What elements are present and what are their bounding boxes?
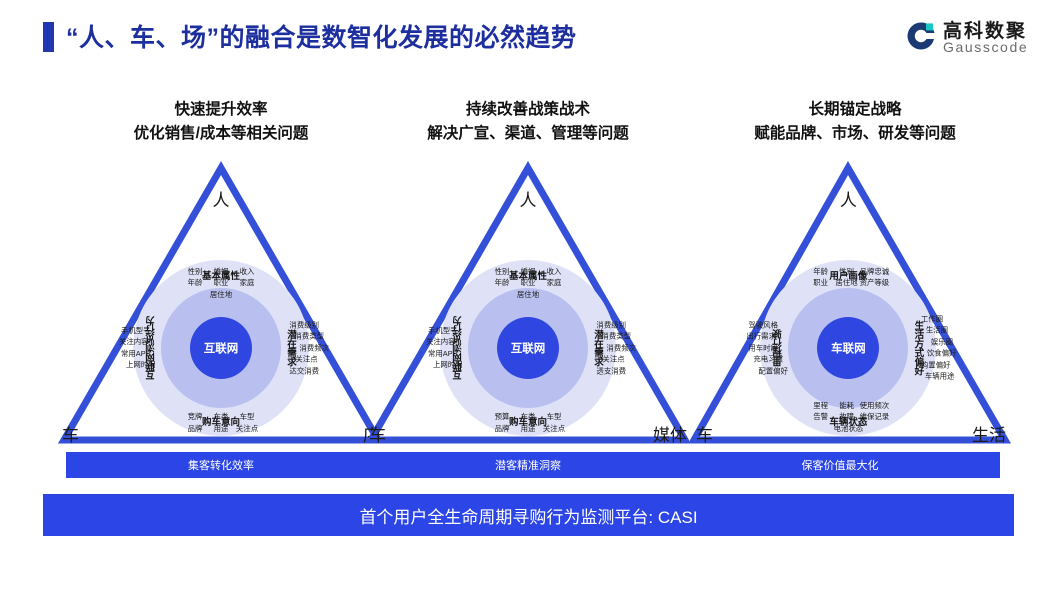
satellite-row: 配置偏好 bbox=[746, 365, 788, 376]
satellite-label: 婚姻 bbox=[515, 266, 541, 277]
satellite-row: 生活圈 bbox=[921, 325, 957, 336]
satellite-label: 职业 bbox=[808, 277, 834, 288]
satellite-label: 用途 bbox=[208, 423, 234, 434]
satellite-label: 常用APP bbox=[121, 348, 151, 359]
satellite-row: 车辆用途 bbox=[921, 371, 957, 382]
gausscode-logo-icon bbox=[905, 20, 937, 52]
satellite-label: 品牌忠诚 bbox=[860, 266, 890, 277]
satellite-row: 透支消费 bbox=[596, 365, 636, 376]
vertex-label-right: 媒体 bbox=[653, 421, 687, 446]
satellite-label: 预算 bbox=[489, 411, 515, 422]
satellite-label: 品牌 bbox=[489, 423, 515, 434]
brand-logo: 高科数聚 Gausscode bbox=[905, 16, 1035, 62]
satellite-label: 消费级别 bbox=[289, 319, 319, 330]
satellite-label: 竞牌 bbox=[182, 411, 208, 422]
satellite-label: 充电习惯 bbox=[753, 354, 783, 365]
satellite-label: 性别 bbox=[182, 266, 208, 277]
satellite-label: 收入 bbox=[234, 266, 260, 277]
concentric-rings: 互联网 互联网 基本属性 购车意向 互联网浏览行为 潜在需求 性别婚姻收入年龄职… bbox=[133, 260, 309, 436]
core-label: 互联网 bbox=[511, 340, 546, 356]
satellite-label: 居住地 bbox=[208, 289, 234, 300]
satellite-label: 消费级别 bbox=[596, 319, 626, 330]
satellite-row: 消费级别 bbox=[596, 319, 636, 330]
satellite-label: 关注点 bbox=[602, 354, 624, 365]
core-label: 互联网 bbox=[204, 340, 239, 356]
satellite-label: 职业 bbox=[515, 277, 541, 288]
satellite-label: 车类 bbox=[208, 411, 234, 422]
satellite-row: 职业居住地资产等级 bbox=[808, 277, 890, 288]
satellite-row: 里程能耗使用频次 bbox=[808, 400, 890, 411]
column-heading-line2: 解决广宣、渠道、管理等问题 bbox=[363, 122, 693, 146]
satellite-row: 达交消费 bbox=[289, 365, 329, 376]
diagram-panel-1: 人 车 店 互联网 互联网 基本属性 购车意向 互联网浏览行为 潜在需求 性别婚… bbox=[56, 160, 386, 448]
satellite-group-bottom: 竞牌车类车型品牌用途关注点 bbox=[182, 411, 260, 434]
satellite-row: 年龄职业家庭 bbox=[182, 277, 260, 288]
satellite-group-left: 驾驶风格出行需求用车时段充电习惯配置偏好 bbox=[746, 319, 788, 376]
satellite-label: 性别 bbox=[489, 266, 515, 277]
satellite-row: 上网时间 bbox=[426, 359, 463, 370]
satellite-row: 性别婚姻收入 bbox=[489, 266, 567, 277]
satellite-label: 常用APP bbox=[428, 348, 458, 359]
satellite-label: 年龄 bbox=[182, 277, 208, 288]
concentric-rings: 互联网 互联网 基本属性 购车意向 互联网浏览行为 潜在需求 性别婚姻收入年龄职… bbox=[440, 260, 616, 436]
satellite-label: 饮食偏好 bbox=[927, 348, 957, 359]
satellite-label: 配置偏好 bbox=[758, 365, 788, 376]
satellite-label: 工作圈 bbox=[921, 314, 943, 325]
satellite-label: 关注点 bbox=[541, 423, 567, 434]
column-heading-line2: 优化销售/成本等相关问题 bbox=[56, 122, 386, 146]
satellite-row: 性别婚姻收入 bbox=[182, 266, 260, 277]
satellite-group-left: 手机型号关注内容常用APP上网时间 bbox=[426, 325, 463, 371]
satellite-label: 驾驶风格 bbox=[748, 319, 778, 330]
satellite-row: 出行需求 bbox=[746, 331, 788, 342]
satellite-label: 关注内容 bbox=[119, 337, 149, 348]
satellite-row: 购置偏好 bbox=[921, 359, 957, 370]
satellite-group-right: 消费级别消费类型消费频次关注点透支消费 bbox=[596, 319, 636, 376]
satellite-label: 车辆用途 bbox=[925, 371, 955, 382]
satellite-row: 居住地 bbox=[489, 289, 567, 300]
vertex-label-right: 生活 bbox=[972, 421, 1006, 446]
core-label: 车联网 bbox=[831, 340, 866, 356]
satellite-label: 上网时间 bbox=[126, 359, 156, 370]
concentric-rings: 车联网 车联网 用户画像 车辆状态 里程行驶 生活方式偏好 年龄性别品牌忠诚职业… bbox=[760, 260, 936, 436]
satellite-row: 驾驶风格 bbox=[746, 319, 788, 330]
satellite-row: 年龄职业家庭 bbox=[489, 277, 567, 288]
satellite-row: 电池状态 bbox=[808, 423, 890, 434]
satellite-label: 用车时段 bbox=[748, 342, 778, 353]
satellite-row: 关注内容 bbox=[426, 337, 463, 348]
satellite-row: 消费频次 bbox=[596, 342, 636, 353]
satellite-label: 消费类型 bbox=[601, 331, 631, 342]
satellite-label: 透支消费 bbox=[596, 365, 626, 376]
satellite-row: 竞牌车类车型 bbox=[182, 411, 260, 422]
satellite-label: 维保记录 bbox=[860, 411, 890, 422]
satellite-label: 生活圈 bbox=[926, 325, 948, 336]
satellite-row: 用车时段 bbox=[746, 342, 788, 353]
satellite-label: 上网时间 bbox=[433, 359, 463, 370]
satellite-group-right: 工作圈生活圈娱乐圈饮食偏好购置偏好车辆用途 bbox=[921, 314, 957, 383]
satellite-label: 电池状态 bbox=[834, 423, 864, 434]
satellite-row: 手机型号 bbox=[119, 325, 156, 336]
satellite-row: 关注点 bbox=[596, 354, 636, 365]
satellite-row: 关注点 bbox=[289, 354, 329, 365]
column-heading-2: 持续改善战策战术 解决广宣、渠道、管理等问题 bbox=[363, 98, 693, 146]
satellite-label: 消费频次 bbox=[606, 342, 636, 353]
column-heading-1: 快速提升效率 优化销售/成本等相关问题 bbox=[56, 98, 386, 146]
satellite-row: 充电习惯 bbox=[746, 354, 788, 365]
satellite-label: 消费类型 bbox=[294, 331, 324, 342]
satellite-label: 年龄 bbox=[808, 266, 834, 277]
satellite-row: 饮食偏好 bbox=[921, 348, 957, 359]
satellite-label: 家庭 bbox=[234, 277, 260, 288]
satellite-label: 用途 bbox=[515, 423, 541, 434]
column-heading-line1: 持续改善战策战术 bbox=[363, 98, 693, 122]
satellite-label: 手机型号 bbox=[428, 325, 458, 336]
satellite-label: 达交消费 bbox=[289, 365, 319, 376]
satellite-label: 出行需求 bbox=[746, 331, 776, 342]
satellite-row: 告警故障维保记录 bbox=[808, 411, 890, 422]
satellite-label: 关注点 bbox=[234, 423, 260, 434]
vertex-label-left: 车 bbox=[62, 421, 79, 446]
satellite-row: 消费级别 bbox=[289, 319, 329, 330]
satellite-label: 家庭 bbox=[541, 277, 567, 288]
satellite-label: 车型 bbox=[234, 411, 260, 422]
satellite-row: 品牌用途关注点 bbox=[182, 423, 260, 434]
satellite-row: 手机型号 bbox=[426, 325, 463, 336]
satellite-label: 资产等级 bbox=[860, 277, 890, 288]
satellite-row: 常用APP bbox=[426, 348, 463, 359]
column-heading-3: 长期锚定战略 赋能品牌、市场、研发等问题 bbox=[690, 98, 1020, 146]
satellite-label: 居住地 bbox=[515, 289, 541, 300]
satellite-label: 品牌 bbox=[182, 423, 208, 434]
satellite-label: 故障 bbox=[834, 411, 860, 422]
satellite-row: 消费类型 bbox=[596, 331, 636, 342]
satellite-group-top: 性别婚姻收入年龄职业家庭居住地 bbox=[182, 266, 260, 300]
satellite-label: 关注内容 bbox=[426, 337, 456, 348]
logo-text-en: Gausscode bbox=[943, 39, 1028, 55]
satellite-label: 居住地 bbox=[834, 277, 860, 288]
satellite-label: 性别 bbox=[834, 266, 860, 277]
satellite-label: 年龄 bbox=[489, 277, 515, 288]
satellite-label: 职业 bbox=[208, 277, 234, 288]
satellite-row: 预算车类车型 bbox=[489, 411, 567, 422]
satellite-group-top: 年龄性别品牌忠诚职业居住地资产等级 bbox=[808, 266, 890, 289]
diagram-panel-2: 人 车 媒体 互联网 互联网 基本属性 购车意向 互联网浏览行为 潜在需求 性别… bbox=[363, 160, 693, 448]
footer-banner: 首个用户全生命周期寻购行为监测平台: CASI bbox=[43, 494, 1014, 536]
satellite-group-top: 性别婚姻收入年龄职业家庭居住地 bbox=[489, 266, 567, 300]
vertex-label-top: 人 bbox=[213, 186, 230, 211]
column-banner-2: 潜客精准洞察 bbox=[373, 452, 683, 478]
vertex-label-left: 车 bbox=[696, 421, 713, 446]
vertex-label-top: 人 bbox=[840, 186, 857, 211]
diagram-panel-3: 人 车 生活 车联网 车联网 用户画像 车辆状态 里程行驶 生活方式偏好 年龄性… bbox=[690, 160, 1020, 448]
satellite-label: 能耗 bbox=[834, 400, 860, 411]
satellite-row: 居住地 bbox=[182, 289, 260, 300]
satellite-label: 消费频次 bbox=[299, 342, 329, 353]
column-heading-line1: 长期锚定战略 bbox=[690, 98, 1020, 122]
satellite-row: 上网时间 bbox=[119, 359, 156, 370]
satellite-group-left: 手机型号关注内容常用APP上网时间 bbox=[119, 325, 156, 371]
satellite-row: 消费类型 bbox=[289, 331, 329, 342]
satellite-label: 使用频次 bbox=[860, 400, 890, 411]
satellite-label: 关注点 bbox=[295, 354, 317, 365]
satellite-label: 告警 bbox=[808, 411, 834, 422]
satellite-label: 车型 bbox=[541, 411, 567, 422]
vertex-label-left: 车 bbox=[369, 421, 386, 446]
page-title: “人、车、场”的融合是数智化发展的必然趋势 bbox=[66, 18, 577, 54]
satellite-row: 常用APP bbox=[119, 348, 156, 359]
satellite-label: 购置偏好 bbox=[921, 359, 951, 370]
satellite-row: 年龄性别品牌忠诚 bbox=[808, 266, 890, 277]
column-banner-3: 保客价值最大化 bbox=[680, 452, 1000, 478]
satellite-row: 消费频次 bbox=[289, 342, 329, 353]
title-accent-bar bbox=[43, 22, 54, 52]
satellite-row: 工作圈 bbox=[921, 314, 957, 325]
column-heading-line1: 快速提升效率 bbox=[56, 98, 386, 122]
satellite-label: 手机型号 bbox=[121, 325, 151, 336]
satellite-label: 收入 bbox=[541, 266, 567, 277]
satellite-label: 娱乐圈 bbox=[931, 337, 953, 348]
column-heading-line2: 赋能品牌、市场、研发等问题 bbox=[690, 122, 1020, 146]
vertex-label-top: 人 bbox=[520, 186, 537, 211]
satellite-group-bottom: 里程能耗使用频次告警故障维保记录电池状态 bbox=[808, 400, 890, 434]
column-banner-1: 集客转化效率 bbox=[66, 452, 376, 478]
satellite-label: 里程 bbox=[808, 400, 834, 411]
satellite-row: 品牌用途关注点 bbox=[489, 423, 567, 434]
satellite-row: 关注内容 bbox=[119, 337, 156, 348]
satellite-label: 婚姻 bbox=[208, 266, 234, 277]
satellite-label: 车类 bbox=[515, 411, 541, 422]
satellite-row: 娱乐圈 bbox=[921, 337, 957, 348]
satellite-group-bottom: 预算车类车型品牌用途关注点 bbox=[489, 411, 567, 434]
slide-header: “人、车、场”的融合是数智化发展的必然趋势 高科数聚 Gausscode bbox=[0, 0, 1057, 72]
satellite-group-right: 消费级别消费类型消费频次关注点达交消费 bbox=[289, 319, 329, 376]
